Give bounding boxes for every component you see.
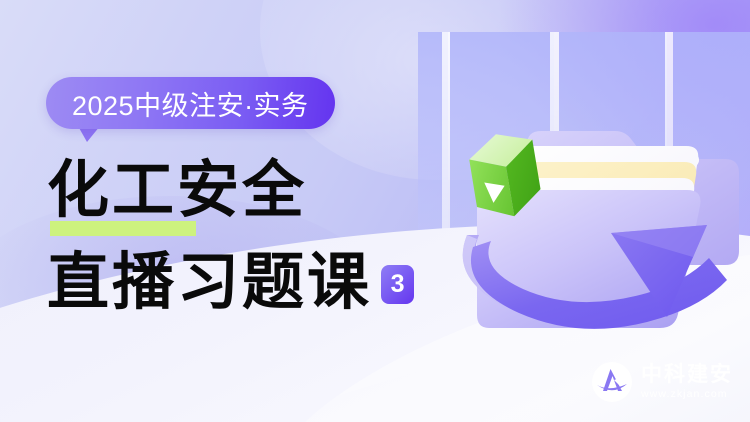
brand-name: 中科建安 bbox=[641, 364, 733, 386]
brand-text: 中科建安 www.zkjan.com bbox=[641, 364, 733, 400]
course-category-pill: 2025中级注安·实务 bbox=[46, 77, 335, 129]
page-title-line2-wrap: 直播习题课 3 bbox=[47, 251, 414, 313]
page-title-line1: 化工安全 bbox=[47, 159, 307, 221]
course-banner: 2025中级注安·实务 化工安全 直播习题课 3 中科建安 www.zkjan.… bbox=[0, 0, 750, 422]
zkjan-circle-logo-icon bbox=[591, 361, 633, 403]
brand-url: www.zkjan.com bbox=[641, 388, 733, 400]
folder-illustration bbox=[415, 35, 750, 365]
page-title-line2: 直播习题课 bbox=[47, 251, 372, 313]
brand-logo: 中科建安 www.zkjan.com bbox=[591, 361, 733, 403]
pill-label: 2025中级注安·实务 bbox=[72, 84, 309, 123]
episode-number-badge: 3 bbox=[381, 265, 414, 304]
